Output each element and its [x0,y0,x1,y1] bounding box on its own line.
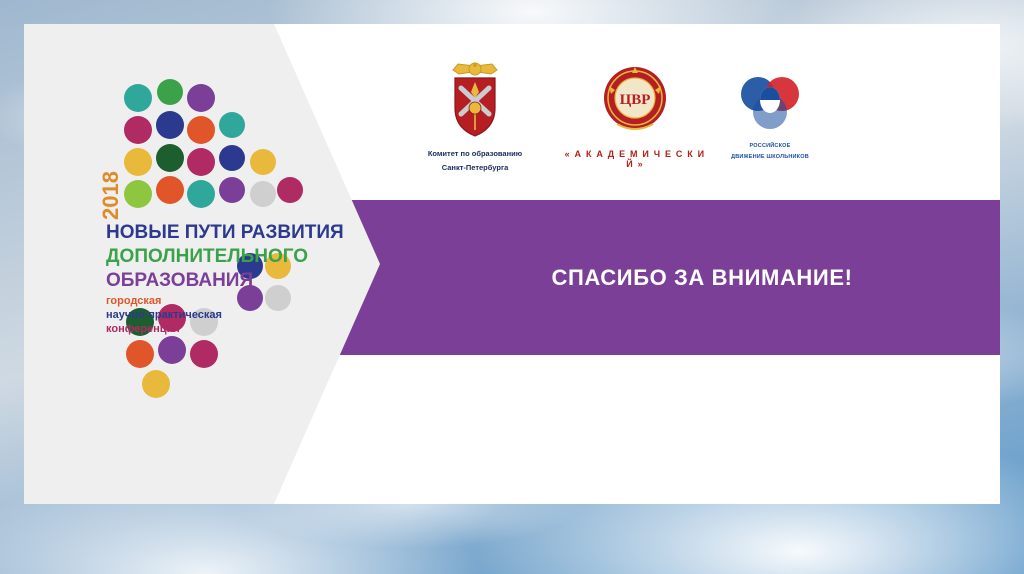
logo-sub-3: конференция [106,323,180,335]
slide: СПАСИБО ЗА ВНИМАНИЕ! [0,0,1024,574]
committee-caption-line2: Санкт-Петербурга [400,163,550,173]
logo-sub-1: городская [106,295,161,307]
partner-logos-row: Комитет по образованию Санкт-Петербурга … [400,60,820,185]
cvr-emblem-text: ЦВР [620,92,651,108]
rdsh-caption-line1: РОССИЙСКОЕ [715,143,825,150]
logo-year: 2018 [100,171,123,220]
logo-committee-education-spb: Комитет по образованию Санкт-Петербурга [400,60,550,173]
conference-logo-graphic: 2018 НОВЫЕ ПУТИ РАЗВИТИЯ ДОПОЛНИТЕЛЬНОГО… [100,70,350,410]
committee-caption-line1: Комитет по образованию [400,149,550,159]
rdsh-circles-icon [715,74,825,134]
rdsh-caption-line2: ДВИЖЕНИЕ ШКОЛЬНИКОВ [715,154,825,161]
logo-cvr-akademichesky: ЦВР « А К А Д Е М И Ч Е С К И Й » [560,62,710,169]
cvr-caption: « А К А Д Е М И Ч Е С К И Й » [560,149,710,169]
conference-logo: 2018 НОВЫЕ ПУТИ РАЗВИТИЯ ДОПОЛНИТЕЛЬНОГО… [100,70,350,410]
logo-line-3: ОБРАЗОВАНИЯ [106,270,253,291]
banner-title: СПАСИБО ЗА ВНИМАНИЕ! [404,200,1000,355]
spb-coat-of-arms-icon [400,60,550,140]
logo-line-1: НОВЫЕ ПУТИ РАЗВИТИЯ [106,222,344,243]
logo-line-2: ДОПОЛНИТЕЛЬНОГО [106,246,308,267]
cvr-emblem-icon: ЦВР [560,62,710,140]
logo-sub-2: научно-практическая [106,309,222,321]
logo-rdsh: РОССИЙСКОЕ ДВИЖЕНИЕ ШКОЛЬНИКОВ [715,74,825,161]
